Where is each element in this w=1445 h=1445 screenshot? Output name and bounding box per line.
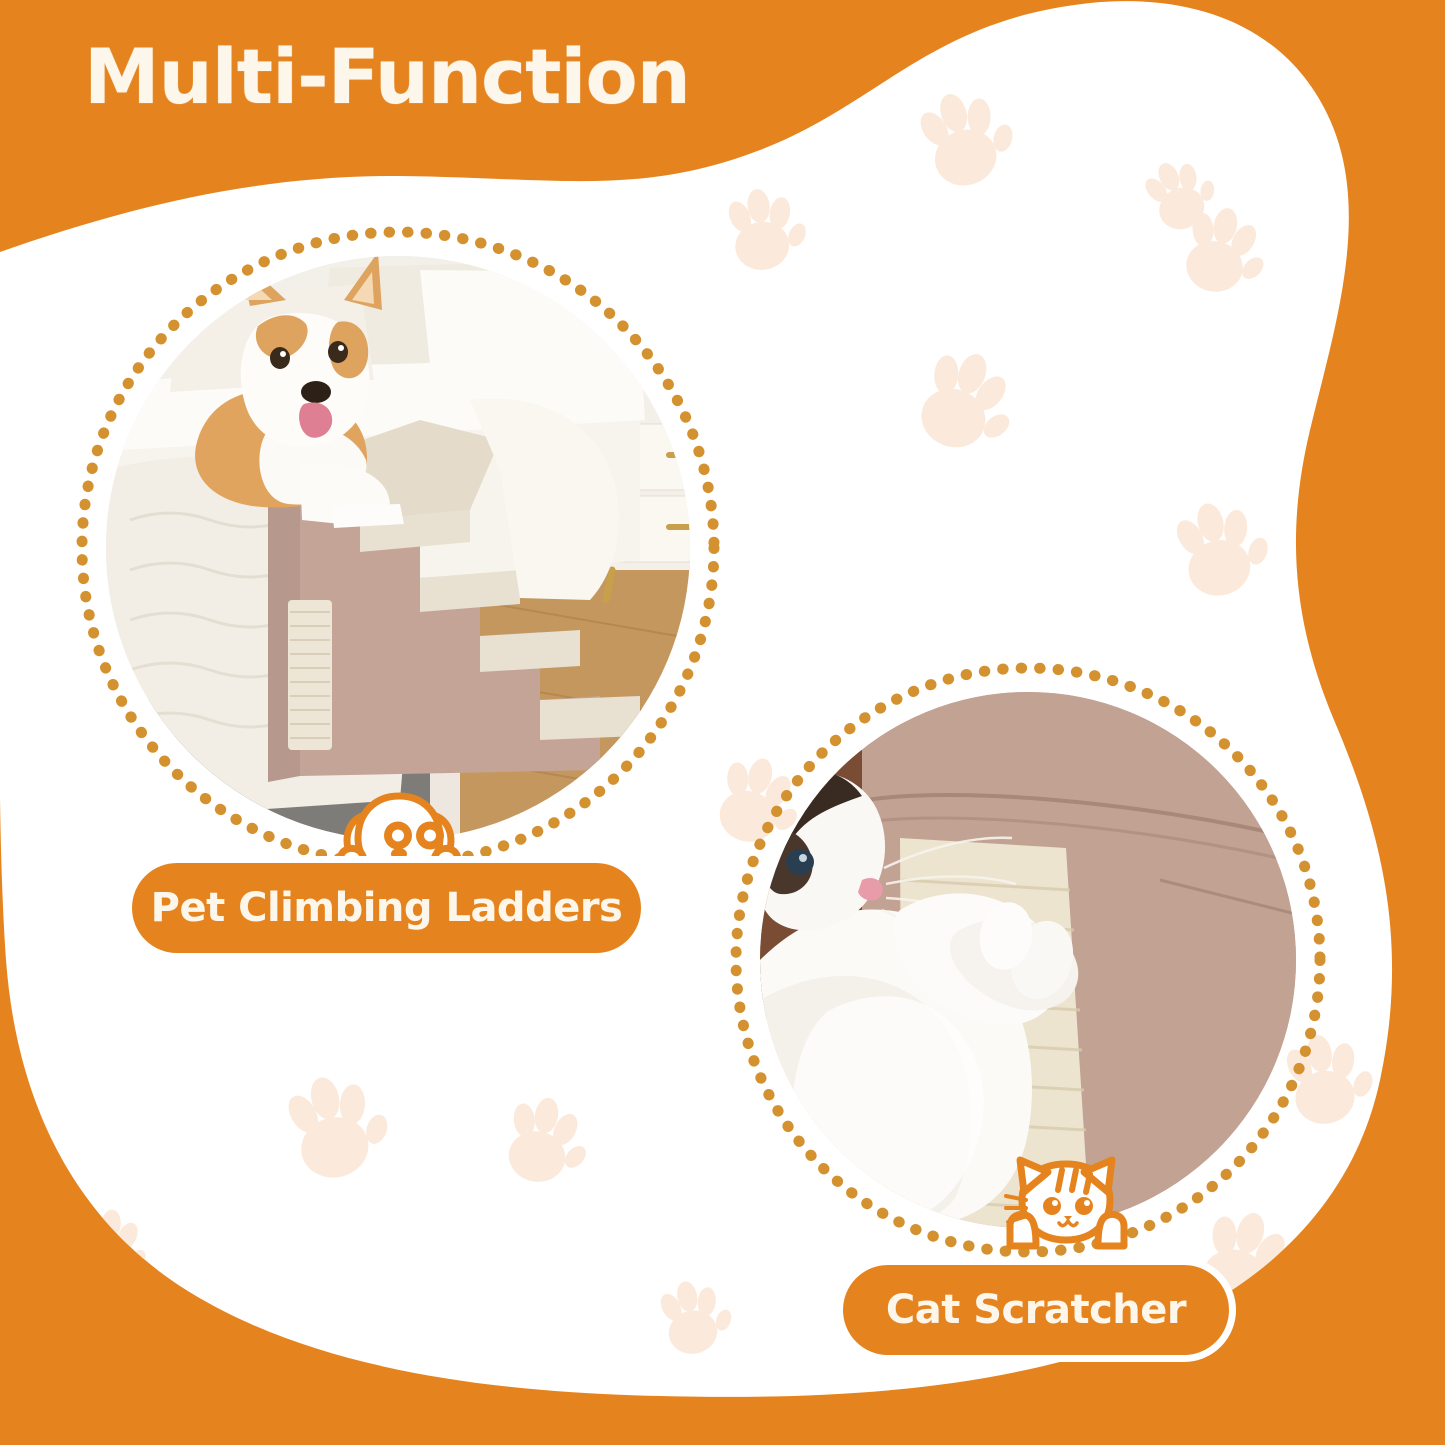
page-title: Multi-Function xyxy=(84,32,690,121)
badge-label-pet-climbing-ladders: Pet Climbing Ladders xyxy=(151,885,623,931)
badge-pet-climbing-ladders[interactable]: Pet Climbing Ladders xyxy=(125,856,648,960)
cat-peeking-icon xyxy=(1000,1152,1132,1250)
photo-cat-scratcher xyxy=(759,692,1296,1228)
infographic-canvas: Multi-Function Pet Climbing Ladders xyxy=(0,0,1445,1445)
background-blob xyxy=(0,0,1445,1445)
badge-cat-scratcher[interactable]: Cat Scratcher xyxy=(836,1258,1236,1362)
badge-label-cat-scratcher: Cat Scratcher xyxy=(886,1287,1186,1333)
